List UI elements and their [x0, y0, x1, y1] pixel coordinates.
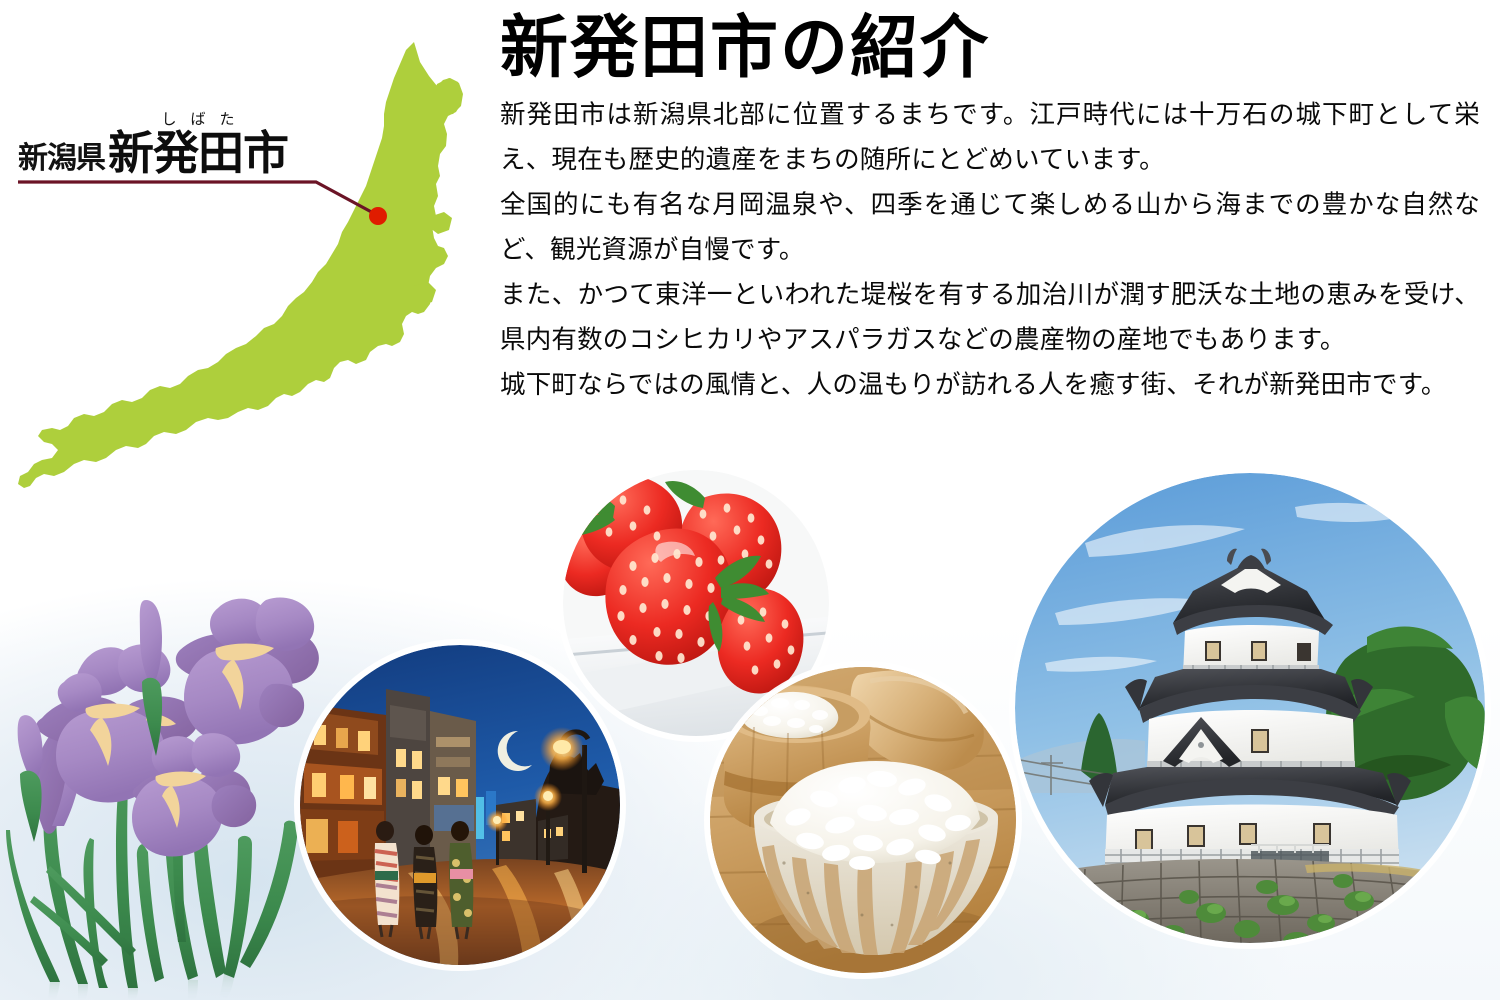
article-paragraph-3: また、かつて東洋一といわれた堤桜を有する加治川が潤す肥沃な土地の恵みを受け、県内… [500, 272, 1480, 362]
map-panel: 新潟県 しばた 新発田市 [0, 20, 500, 500]
rice-bowl-image [710, 667, 1016, 973]
iris-bloom-top-right [176, 597, 319, 744]
prefecture-name: 新潟県 [18, 144, 105, 176]
onsen-street-image [300, 645, 620, 965]
page-title: 新発田市の紹介 [500, 10, 1480, 86]
niigata-prefecture-shape [18, 42, 462, 488]
city-name: 新発田市 [108, 130, 288, 176]
photo-rice-bowl [710, 667, 1016, 973]
shibata-castle-image [1015, 473, 1485, 943]
article-paragraph-1: 新発田市は新潟県北部に位置するまちです。江戸時代には十万石の城下町として栄え、現… [500, 92, 1480, 182]
city-name-ruby: しばた [147, 112, 248, 127]
photo-onsen-street [300, 645, 620, 965]
iris-bud-left [18, 715, 43, 842]
iris-illustration [0, 590, 330, 1000]
city-label-group: 新潟県 しばた 新発田市 [18, 112, 288, 176]
niigata-map-svg [0, 20, 500, 500]
iris-flowers-svg [0, 590, 330, 1000]
location-marker-dot [369, 207, 387, 225]
niigata-northern-peninsula [433, 78, 463, 115]
article-block: 新発田市の紹介 新発田市は新潟県北部に位置するまちです。江戸時代には十万石の城下… [500, 10, 1480, 407]
poster-canvas: 新潟県 しばた 新発田市 新発田市の紹介 新発田市は新潟県北部に位置するまちです… [0, 0, 1500, 1000]
city-name-with-ruby: しばた 新発田市 [108, 112, 288, 176]
photo-shibata-castle [1015, 473, 1485, 943]
pointer-leader-line [18, 182, 377, 215]
article-paragraph-2: 全国的にも有名な月岡温泉や、四季を通じて楽しめる山から海までの豊かな自然など、観… [500, 182, 1480, 272]
article-paragraph-4: 城下町ならではの風情と、人の温もりが訪れる人を癒す街、それが新発田市です。 [500, 362, 1480, 407]
